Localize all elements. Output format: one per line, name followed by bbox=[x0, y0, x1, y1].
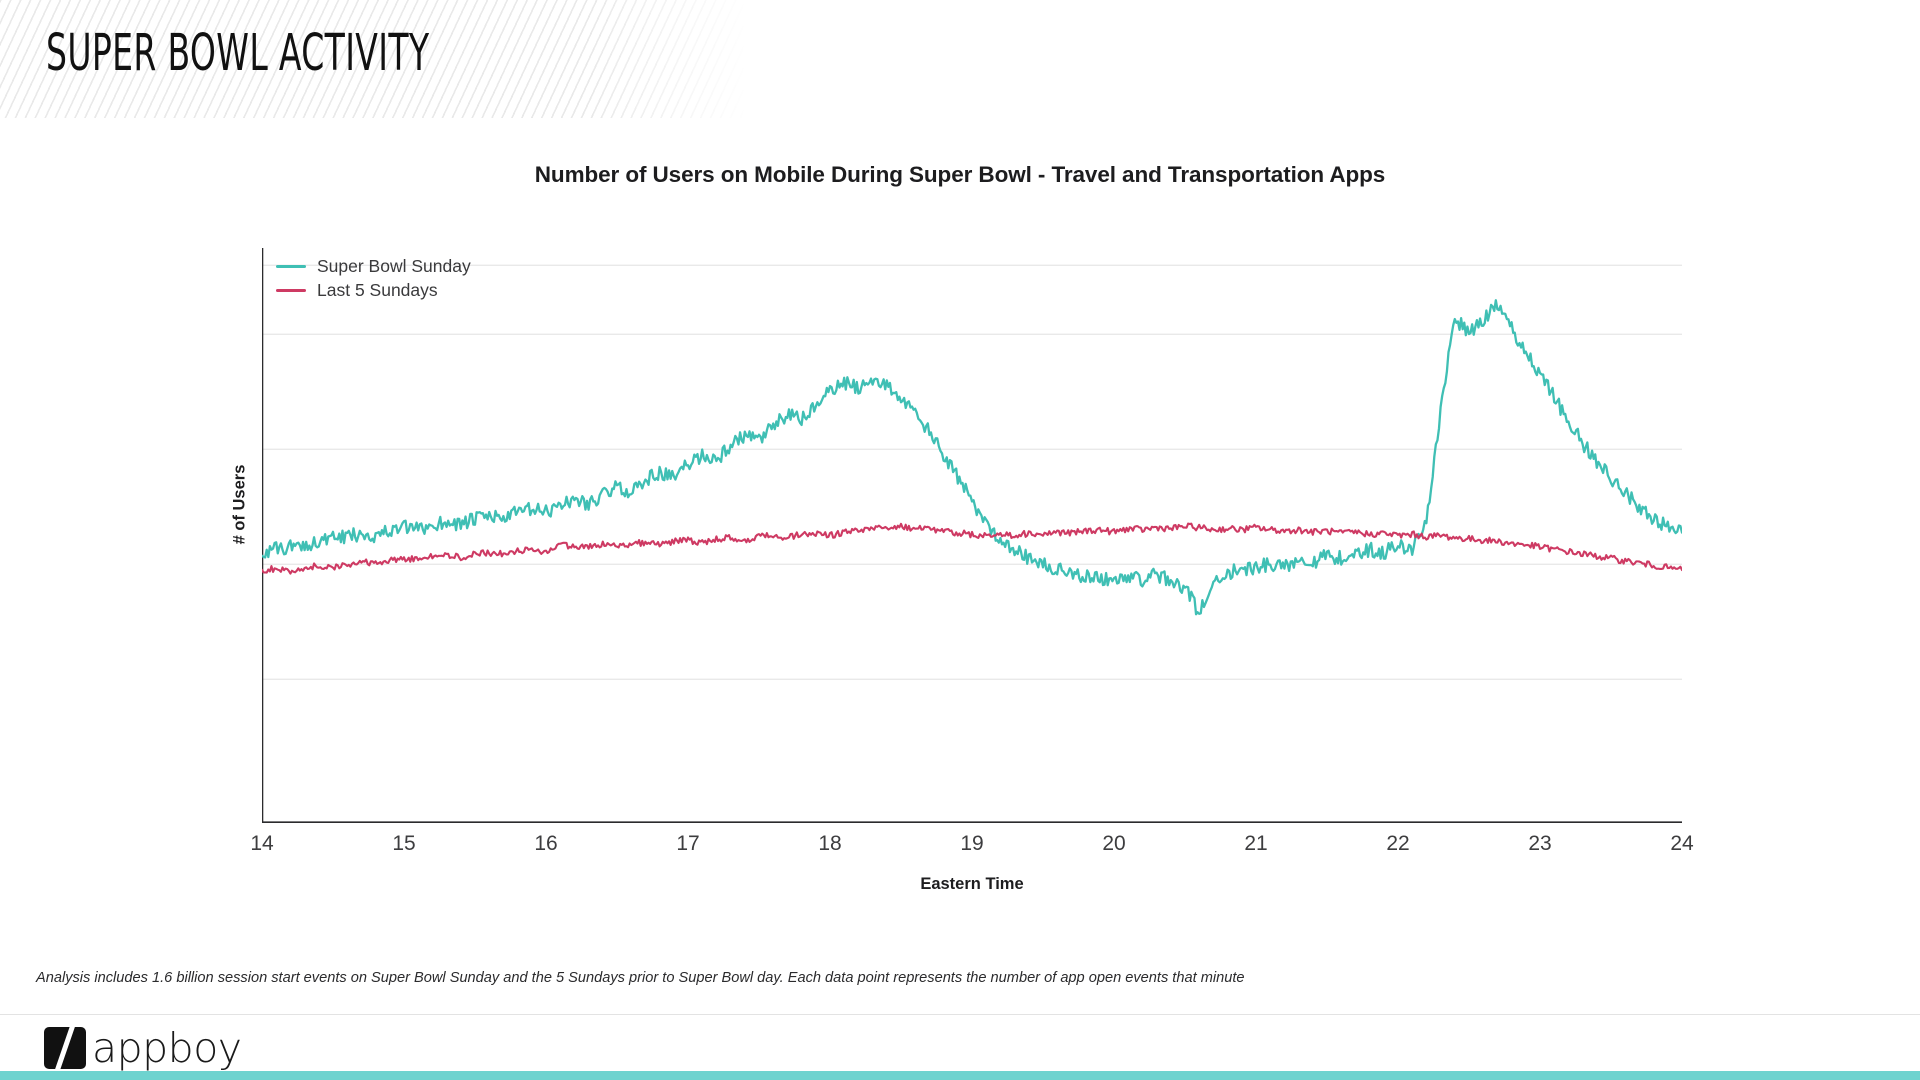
gridlines bbox=[262, 265, 1682, 679]
chart-container: Number of Users on Mobile During Super B… bbox=[0, 140, 1920, 930]
appboy-logo: appboy bbox=[44, 1026, 242, 1070]
x-tick-label: 15 bbox=[392, 832, 415, 856]
legend-swatch-last-5-sundays bbox=[276, 289, 306, 292]
chart-title: Number of Users on Mobile During Super B… bbox=[0, 162, 1920, 188]
x-tick-label: 23 bbox=[1528, 832, 1551, 856]
x-tick-label: 21 bbox=[1244, 832, 1267, 856]
x-tick-label: 19 bbox=[960, 832, 983, 856]
x-tick-label: 18 bbox=[818, 832, 841, 856]
x-tick-label: 22 bbox=[1386, 832, 1409, 856]
line-chart-svg bbox=[262, 248, 1682, 823]
series-lines bbox=[262, 300, 1682, 614]
x-tick-label: 17 bbox=[676, 832, 699, 856]
series-line-last-5-sundays bbox=[262, 524, 1682, 574]
x-axis-tick-labels: 1415161718192021222324 bbox=[262, 832, 1682, 862]
chart-legend: Super Bowl Sunday Last 5 Sundays bbox=[276, 254, 471, 302]
legend-label-super-bowl-sunday: Super Bowl Sunday bbox=[317, 254, 471, 278]
x-axis-label: Eastern Time bbox=[262, 875, 1682, 894]
footer-divider bbox=[0, 1014, 1920, 1015]
x-tick-label: 20 bbox=[1102, 832, 1125, 856]
appboy-wordmark: appboy bbox=[92, 1028, 242, 1069]
brand-accent-bar bbox=[0, 1071, 1920, 1080]
appboy-mark-icon bbox=[44, 1027, 86, 1069]
analysis-footnote: Analysis includes 1.6 billion session st… bbox=[36, 970, 1245, 986]
x-tick-label: 24 bbox=[1670, 832, 1693, 856]
legend-item-last-5-sundays[interactable]: Last 5 Sundays bbox=[276, 278, 471, 302]
legend-item-super-bowl-sunday[interactable]: Super Bowl Sunday bbox=[276, 254, 471, 278]
legend-swatch-super-bowl-sunday bbox=[276, 265, 306, 268]
x-tick-label: 16 bbox=[534, 832, 557, 856]
page-title: SUPER BOWL ACTIVITY bbox=[46, 24, 429, 83]
legend-label-last-5-sundays: Last 5 Sundays bbox=[317, 278, 438, 302]
series-line-super-bowl-sunday bbox=[262, 300, 1682, 614]
x-tick-label: 14 bbox=[250, 832, 273, 856]
y-axis-label: # of Users bbox=[230, 465, 249, 545]
plot-area: Super Bowl Sunday Last 5 Sundays bbox=[262, 248, 1682, 823]
